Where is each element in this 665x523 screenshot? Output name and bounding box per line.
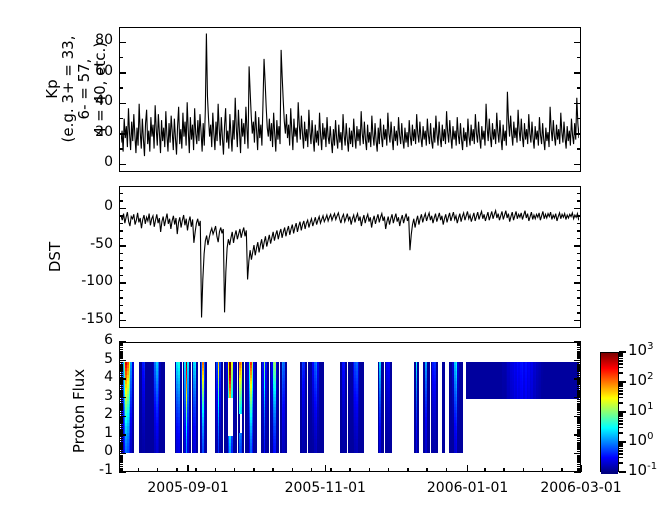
kp-ytick-label: 80 <box>65 32 113 48</box>
flux-ytick-minor <box>119 403 123 405</box>
flux-ytick-label: -1 <box>79 462 113 478</box>
flux-ytick-minor <box>119 460 123 462</box>
heatmap-cell <box>417 449 419 453</box>
heatmap-cell <box>147 449 149 453</box>
flux-ytick-minor-right <box>577 403 581 405</box>
flux-ytick-minor <box>119 408 123 410</box>
flux-ytick-minor <box>119 382 123 384</box>
dst-path <box>121 210 580 317</box>
colorbar-tick-minor <box>619 457 623 459</box>
colorbar-tick-minor <box>619 427 623 429</box>
colorbar-tick-major <box>619 471 626 473</box>
kp-ytick-major <box>119 103 126 105</box>
flux-ytick-minor-right <box>577 455 581 457</box>
kp-ytick-minor <box>119 118 123 120</box>
dst-ytick-minor-right <box>577 312 581 314</box>
flux-ytick-minor-right <box>577 373 581 375</box>
kp-ytick-major-right <box>574 42 581 44</box>
heatmap-cell <box>427 449 429 453</box>
heatmap-cell <box>221 449 223 453</box>
colorbar-segment <box>601 472 618 474</box>
kp-ytick-minor-right <box>577 118 581 120</box>
flux-ytick-label: 4 <box>79 369 113 385</box>
flux-ytick-minor <box>119 401 123 403</box>
colorbar-tick-minor <box>619 443 623 445</box>
flux-ytick-minor-right <box>577 438 581 440</box>
dst-trace-area <box>121 188 580 327</box>
kp-ytick-major-right <box>574 72 581 74</box>
flux-ytick-minor <box>119 430 123 432</box>
dst-ytick-minor <box>119 238 123 240</box>
colorbar-tick-minor <box>619 388 623 390</box>
flux-ytick-label: 6 <box>79 332 113 348</box>
flux-ytick-minor-right <box>577 408 581 410</box>
flux-ytick-minor-right <box>577 425 581 427</box>
heatmap-cell <box>390 449 392 453</box>
flux-ytick-minor-right <box>577 412 581 414</box>
flux-ytick-minor-right <box>577 354 581 356</box>
kp-ytick-minor-right <box>577 87 581 89</box>
colorbar-tick-minor <box>619 372 623 374</box>
flux-ytick-minor <box>119 380 123 382</box>
dst-ytick-minor-right <box>577 193 581 195</box>
xtick-major <box>580 465 582 472</box>
colorbar-tick-minor <box>619 354 623 356</box>
dst-ytick-minor <box>119 260 123 262</box>
kp-ytick-minor <box>119 148 123 150</box>
flux-ytick-minor <box>119 352 123 354</box>
xtick-minor-bottom <box>446 468 448 472</box>
flux-ytick-minor <box>119 386 123 388</box>
xtick-major <box>187 465 189 472</box>
flux-ytick-minor-right <box>577 345 581 347</box>
flux-ytick-minor-right <box>577 414 581 416</box>
flux-ytick-minor-right <box>577 365 581 367</box>
flux-ytick-minor <box>119 464 123 466</box>
colorbar-tick-minor <box>619 444 623 446</box>
flux-ytick-minor <box>119 345 123 347</box>
colorbar-tick-minor <box>619 413 623 415</box>
kp-ytick-major <box>119 72 126 74</box>
flux-ytick-minor <box>119 375 123 377</box>
xtick-minor-bottom <box>253 468 255 472</box>
xtick-minor-bottom <box>234 468 236 472</box>
colorbar-tick-exponent: -1 <box>647 461 657 472</box>
dst-ytick-minor <box>119 193 123 195</box>
colorbar-tick-mantissa: 10 <box>628 431 647 449</box>
colorbar-tick-minor <box>619 462 623 464</box>
flux-ytick-minor <box>119 414 123 416</box>
flux-ytick-minor <box>119 451 123 453</box>
colorbar-tick-minor <box>619 367 623 369</box>
colorbar-tick-minor <box>619 446 623 448</box>
flux-ytick-minor-right <box>577 362 581 364</box>
flux-ytick-minor-right <box>577 375 581 377</box>
flux-ytick-minor-right <box>577 436 581 438</box>
dst-ytick-major <box>119 245 126 247</box>
colorbar-tick-minor <box>619 423 623 425</box>
flux-ytick-minor-right <box>577 440 581 442</box>
colorbar <box>600 352 619 472</box>
flux-ytick-minor <box>119 410 123 412</box>
flux-ytick-minor <box>119 343 123 345</box>
colorbar-tick-minor <box>619 453 623 455</box>
flux-ytick-minor-right <box>577 349 581 351</box>
flux-ytick-minor <box>119 429 123 431</box>
dst-ytick-minor <box>119 312 123 314</box>
colorbar-tick-mantissa: 10 <box>628 341 647 359</box>
dst-ytick-minor-right <box>577 260 581 262</box>
kp-ytick-minor-right <box>577 57 581 59</box>
flux-ytick-minor <box>119 369 123 371</box>
xtick-major <box>467 465 469 472</box>
heatmap-cell <box>345 449 347 453</box>
flux-ytick-minor <box>119 443 123 445</box>
flux-ytick-minor-right <box>577 442 581 444</box>
flux-ytick-minor-right <box>577 401 581 403</box>
flux-ytick-minor <box>119 391 123 393</box>
heatmap-cell <box>189 449 191 453</box>
flux-ytick-minor <box>119 364 123 366</box>
kp-ytick-label: 0 <box>65 154 113 170</box>
flux-ytick-minor-right <box>577 410 581 412</box>
dst-ytick-minor-right <box>577 238 581 240</box>
colorbar-tick-minor <box>619 353 623 355</box>
flux-ytick-minor <box>119 468 123 470</box>
flux-ytick-minor-right <box>577 417 581 419</box>
kp-axis-label-line-1: Kp <box>44 9 60 169</box>
heatmap-cell <box>381 449 383 453</box>
flux-ytick-minor <box>119 442 123 444</box>
flux-ytick-minor <box>119 417 123 419</box>
flux-ytick-minor-right <box>577 343 581 345</box>
heatmap-cell <box>163 449 165 453</box>
flux-ytick-minor <box>119 425 123 427</box>
flux-ytick-minor <box>119 354 123 356</box>
heatmap-cell <box>255 449 257 453</box>
colorbar-tick-minor <box>619 390 623 392</box>
flux-ytick-minor <box>119 356 123 358</box>
flux-ytick-minor-right <box>577 388 581 390</box>
colorbar-tick-minor <box>619 414 623 416</box>
colorbar-tick-minor <box>619 384 623 386</box>
flux-ytick-minor-right <box>577 347 581 349</box>
flux-ytick-minor-right <box>577 382 581 384</box>
colorbar-tick-label: 10-1 <box>628 461 657 479</box>
proton-flux-heatmap-area <box>121 344 580 471</box>
xtick-minor-bottom <box>138 468 140 472</box>
heatmap-cell <box>132 449 134 453</box>
xtick-minor-bottom <box>272 468 274 472</box>
flux-ytick-minor-right <box>577 386 581 388</box>
flux-ytick-minor <box>119 371 123 373</box>
colorbar-tick-minor <box>619 420 623 422</box>
flux-ytick-minor <box>119 406 123 408</box>
colorbar-tick-exponent: 2 <box>647 371 653 382</box>
colorbar-tick-minor <box>619 450 623 452</box>
flux-ytick-minor <box>119 421 123 423</box>
kp-ytick-major <box>119 164 126 166</box>
colorbar-tick-label: 100 <box>628 431 653 449</box>
xtick-minor-bottom <box>503 468 505 472</box>
colorbar-tick-label: 101 <box>628 401 653 419</box>
colorbar-tick-exponent: 0 <box>647 431 653 442</box>
flux-ytick-minor <box>119 390 123 392</box>
dst-ytick-minor-right <box>577 230 581 232</box>
kp-ytick-major <box>119 133 126 135</box>
dst-ytick-minor-right <box>577 297 581 299</box>
heatmap-cell <box>235 449 237 453</box>
flux-ytick-minor-right <box>577 458 581 460</box>
flux-ytick-minor-right <box>577 445 581 447</box>
flux-ytick-minor <box>119 362 123 364</box>
dst-ytick-major-right <box>574 245 581 247</box>
colorbar-tick-minor <box>619 418 623 420</box>
flux-ytick-minor-right <box>577 352 581 354</box>
dst-ytick-major-right <box>574 320 581 322</box>
flux-ytick-minor <box>119 462 123 464</box>
flux-ytick-minor <box>119 412 123 414</box>
flux-ytick-minor <box>119 449 123 451</box>
dst-ytick-minor <box>119 297 123 299</box>
xtick-label: 2006-03-01 <box>521 480 641 496</box>
colorbar-tick-minor <box>619 393 623 395</box>
dst-ytick-label: -50 <box>59 236 113 252</box>
xtick-minor-bottom <box>426 468 428 472</box>
xtick-minor-bottom <box>523 468 525 472</box>
flux-ytick-minor <box>119 466 123 468</box>
xtick-minor-bottom <box>292 468 294 472</box>
colorbar-tick-label: 102 <box>628 371 653 389</box>
heatmap-cell <box>436 449 438 453</box>
flux-ytick-minor <box>119 419 123 421</box>
colorbar-tick-minor <box>619 356 623 358</box>
heatmap-cell <box>267 449 269 453</box>
xtick-label: 2005-11-01 <box>265 480 385 496</box>
dst-ytick-minor <box>119 253 123 255</box>
flux-ytick-minor-right <box>577 456 581 458</box>
colorbar-tick-minor <box>619 386 623 388</box>
dst-ytick-minor <box>119 200 123 202</box>
dst-ytick-minor-right <box>577 305 581 307</box>
flux-ytick-minor-right <box>577 364 581 366</box>
flux-ytick-minor-right <box>577 369 581 371</box>
dst-ytick-minor-right <box>577 223 581 225</box>
flux-ytick-minor-right <box>577 447 581 449</box>
heatmap-cell <box>322 449 324 453</box>
flux-ytick-minor <box>119 349 123 351</box>
kp-trace-area <box>121 29 580 171</box>
flux-ytick-minor-right <box>577 395 581 397</box>
dst-ytick-minor-right <box>577 275 581 277</box>
figure-canvas: Kp (e.g. 3+ = 33, 6- = 57, 4 = 40, etc.)… <box>0 0 665 523</box>
flux-ytick-minor <box>119 447 123 449</box>
kp-ytick-minor-right <box>577 148 581 150</box>
xtick-minor-bottom <box>407 468 409 472</box>
colorbar-tick-minor <box>619 402 623 404</box>
xtick-minor-bottom <box>176 468 178 472</box>
colorbar-tick-mantissa: 10 <box>628 461 647 479</box>
flux-ytick-minor <box>119 455 123 457</box>
kp-line-trace <box>121 29 580 171</box>
colorbar-tick-minor <box>619 432 623 434</box>
dst-ytick-minor <box>119 305 123 307</box>
kp-path <box>121 33 580 156</box>
flux-ytick-minor <box>119 432 123 434</box>
xtick-minor-bottom <box>157 468 159 472</box>
flux-ytick-label: 0 <box>79 443 113 459</box>
flux-ytick-minor <box>119 388 123 390</box>
flux-ytick-label: 2 <box>79 406 113 422</box>
flux-ytick-minor <box>119 438 123 440</box>
flux-ytick-minor <box>119 436 123 438</box>
dst-line-trace <box>121 188 580 327</box>
dst-ytick-major <box>119 282 126 284</box>
flux-ytick-minor-right <box>577 460 581 462</box>
flux-ytick-minor-right <box>577 423 581 425</box>
xtick-minor-bottom <box>484 468 486 472</box>
colorbar-tick-minor <box>619 358 623 360</box>
xtick-label: 2006-01-01 <box>408 480 528 496</box>
flux-ytick-minor-right <box>577 429 581 431</box>
heatmap-cell <box>205 449 207 453</box>
dst-ytick-label: -100 <box>59 273 113 289</box>
xtick-minor-bottom <box>561 468 563 472</box>
xtick-label: 2005-09-01 <box>128 480 248 496</box>
flux-ytick-minor-right <box>577 351 581 353</box>
flux-ytick-minor <box>119 440 123 442</box>
dst-ytick-minor <box>119 230 123 232</box>
kp-ytick-major-right <box>574 133 581 135</box>
dst-ytick-minor <box>119 215 123 217</box>
kp-ytick-label: 60 <box>65 63 113 79</box>
kp-ytick-major-right <box>574 103 581 105</box>
flux-ytick-label: 1 <box>79 425 113 441</box>
kp-ytick-label: 20 <box>65 124 113 140</box>
kp-ytick-label: 40 <box>65 93 113 109</box>
flux-ytick-minor-right <box>577 390 581 392</box>
flux-ytick-minor-right <box>577 384 581 386</box>
flux-ytick-minor-right <box>577 399 581 401</box>
colorbar-tick-minor <box>619 383 623 385</box>
flux-ytick-minor-right <box>577 419 581 421</box>
dst-ytick-minor-right <box>577 290 581 292</box>
dst-ytick-minor-right <box>577 267 581 269</box>
flux-ytick-minor <box>119 404 123 406</box>
flux-ytick-minor-right <box>577 371 581 373</box>
flux-ytick-minor-right <box>577 432 581 434</box>
dst-ytick-label: 0 <box>59 198 113 214</box>
flux-ytick-minor-right <box>577 393 581 395</box>
xtick-minor-bottom <box>215 468 217 472</box>
flux-ytick-minor <box>119 395 123 397</box>
flux-ytick-label: 3 <box>79 388 113 404</box>
flux-ytick-major <box>119 471 126 473</box>
flux-ytick-minor <box>119 399 123 401</box>
dst-ytick-label: -150 <box>59 311 113 327</box>
dst-ytick-minor-right <box>577 200 581 202</box>
kp-ytick-major <box>119 42 126 44</box>
flux-ytick-minor-right <box>577 356 581 358</box>
xtick-minor-bottom <box>311 468 313 472</box>
flux-ytick-minor <box>119 445 123 447</box>
xtick-minor-bottom <box>330 468 332 472</box>
colorbar-tick-minor <box>619 363 623 365</box>
flux-ytick-minor <box>119 367 123 369</box>
flux-ytick-minor-right <box>577 406 581 408</box>
heatmap-cell <box>277 449 279 453</box>
flux-ytick-minor <box>119 423 123 425</box>
flux-ytick-minor-right <box>577 427 581 429</box>
flux-ytick-minor-right <box>577 430 581 432</box>
flux-ytick-minor-right <box>577 462 581 464</box>
heatmap-cell <box>443 449 445 453</box>
flux-ytick-minor-right <box>577 367 581 369</box>
heatmap-cell <box>285 449 287 453</box>
flux-ytick-minor-right <box>577 443 581 445</box>
flux-ytick-minor-right <box>577 449 581 451</box>
flux-ytick-minor <box>119 469 123 471</box>
xtick-minor-bottom <box>195 468 197 472</box>
heatmap-cell <box>461 449 463 453</box>
colorbar-tick-minor <box>619 397 623 399</box>
colorbar-tick-exponent: 3 <box>647 341 653 352</box>
colorbar-tick-minor <box>619 448 623 450</box>
heatmap-cell <box>242 449 244 453</box>
dst-ytick-minor <box>119 267 123 269</box>
flux-ytick-minor-right <box>577 358 581 360</box>
flux-ytick-minor <box>119 377 123 379</box>
xtick-minor-bottom <box>542 468 544 472</box>
flux-ytick-minor-right <box>577 380 581 382</box>
xtick-minor-bottom <box>388 468 390 472</box>
xtick-minor-bottom <box>369 468 371 472</box>
heatmap-cell <box>180 449 182 453</box>
flux-ytick-label: 5 <box>79 351 113 367</box>
heatmap-cell <box>196 449 198 453</box>
xtick-major <box>325 465 327 472</box>
flux-ytick-minor <box>119 384 123 386</box>
flux-ytick-minor <box>119 347 123 349</box>
dst-ytick-minor-right <box>577 215 581 217</box>
colorbar-tick-label: 103 <box>628 341 653 359</box>
colorbar-tick-mantissa: 10 <box>628 401 647 419</box>
flux-ytick-minor <box>119 351 123 353</box>
kp-ytick-minor <box>119 87 123 89</box>
flux-ytick-minor-right <box>577 391 581 393</box>
xtick-minor-bottom <box>349 468 351 472</box>
flux-ytick-minor <box>119 365 123 367</box>
flux-ytick-minor <box>119 373 123 375</box>
heatmap-cell <box>362 449 364 453</box>
dst-ytick-major <box>119 208 126 210</box>
colorbar-tick-mantissa: 10 <box>628 371 647 389</box>
dst-ytick-major <box>119 320 126 322</box>
flux-ytick-minor-right <box>577 451 581 453</box>
kp-ytick-major-right <box>574 164 581 166</box>
dst-ytick-major-right <box>574 282 581 284</box>
flux-ytick-minor-right <box>577 404 581 406</box>
colorbar-tick-exponent: 1 <box>647 401 653 412</box>
flux-ytick-minor-right <box>577 421 581 423</box>
heatmap-cell <box>305 449 307 453</box>
flux-ytick-minor <box>119 456 123 458</box>
dst-ytick-minor <box>119 290 123 292</box>
flux-ytick-minor <box>119 358 123 360</box>
colorbar-tick-minor <box>619 360 623 362</box>
dst-ytick-minor <box>119 275 123 277</box>
flux-ytick-minor <box>119 427 123 429</box>
